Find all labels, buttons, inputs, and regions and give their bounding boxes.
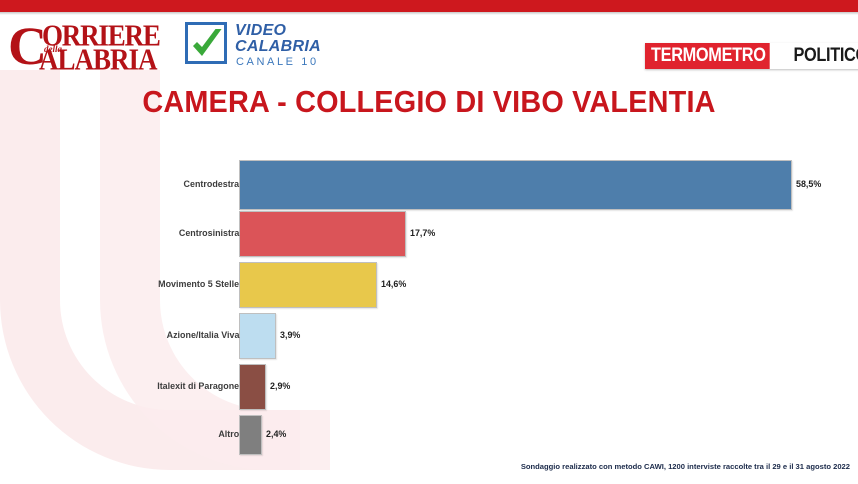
category-label: Azione/Italia Viva [166, 330, 239, 342]
video-calabria-logo: VIDEO CALABRIA CANALE 10 [185, 20, 335, 72]
category-label: Altro [218, 429, 239, 441]
header: C ORRIERE ALABRIA della VIDEO CALABRIA C… [0, 15, 858, 77]
value-label: 14,6% [381, 279, 406, 291]
poll-bar-chart: Centrodestra58,5%Centrosinistra17,7%Movi… [0, 152, 858, 452]
video-calabria-box [185, 22, 227, 64]
page-title: CAMERA - COLLEGIO DI VIBO VALENTIA [30, 84, 828, 120]
survey-methodology-note: Sondaggio realizzato con metodo CAWI, 12… [521, 462, 850, 472]
video-calabria-line3: CANALE 10 [236, 56, 319, 68]
value-label: 2,9% [270, 381, 290, 393]
top-red-stripe [0, 0, 858, 12]
bar-azione-italia-viva [239, 313, 276, 359]
bar-centrosinistra [239, 211, 406, 257]
bar-centrodestra [239, 160, 792, 210]
video-calabria-line1: VIDEO [235, 22, 286, 39]
value-label: 2,4% [266, 429, 286, 441]
category-label: Italexit di Paragone [157, 381, 239, 393]
category-label: Centrodestra [183, 179, 239, 191]
politico-label: POLITICO [790, 43, 858, 69]
checkmark-icon [191, 29, 225, 61]
termometro-politico-logo: TERMOMETRO POLITICO [645, 43, 858, 69]
value-label: 3,9% [280, 330, 300, 342]
bar-italexit-di-paragone [239, 364, 266, 410]
corriere-della: della [44, 45, 62, 54]
category-label: Movimento 5 Stelle [158, 279, 239, 291]
bar-movimento-5-stelle [239, 262, 377, 308]
corriere-calabria-logo: C ORRIERE ALABRIA della [6, 18, 178, 74]
value-label: 58,5% [796, 179, 821, 191]
poll-slide: C ORRIERE ALABRIA della VIDEO CALABRIA C… [0, 0, 858, 484]
category-label: Centrosinistra [178, 228, 239, 240]
value-label: 17,7% [410, 228, 435, 240]
video-calabria-line2: CALABRIA [235, 38, 321, 55]
termometro-label: TERMOMETRO [645, 43, 770, 69]
bar-altro [239, 415, 262, 455]
